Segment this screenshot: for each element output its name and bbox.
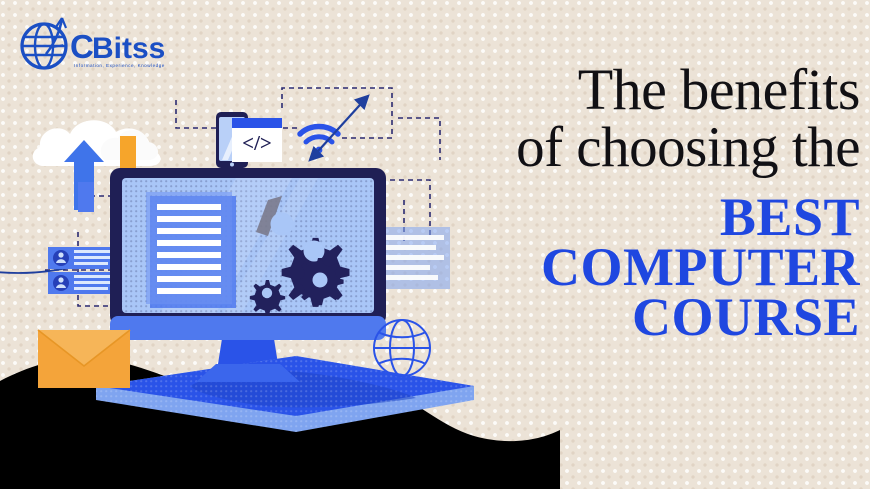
globe-swoosh-icon [22,18,66,68]
headline-line-5: COURSE [420,290,860,344]
brand-name-accent: C [70,28,94,65]
brand-logo[interactable]: C Bitss Information, Experience, Knowled… [8,10,198,72]
headline-line-2: of choosing the [420,120,860,175]
headline-line-1: The benefits [420,62,860,118]
side-tab-icon [78,182,94,212]
headline-line-4: COMPUTER [420,240,860,294]
headline-line-3: BEST [420,190,860,244]
code-tag-icon: </> [232,118,282,162]
document-icon [146,192,236,308]
headline-block: The benefits of choosing the BEST COMPUT… [420,62,860,344]
brand-tagline: Information, Experience, Knowledge [74,63,165,68]
envelope-icon [38,330,130,388]
code-tag-text: </> [242,131,272,155]
brand-name-rest: Bitss [92,32,165,65]
banner-root: </> [0,0,870,489]
